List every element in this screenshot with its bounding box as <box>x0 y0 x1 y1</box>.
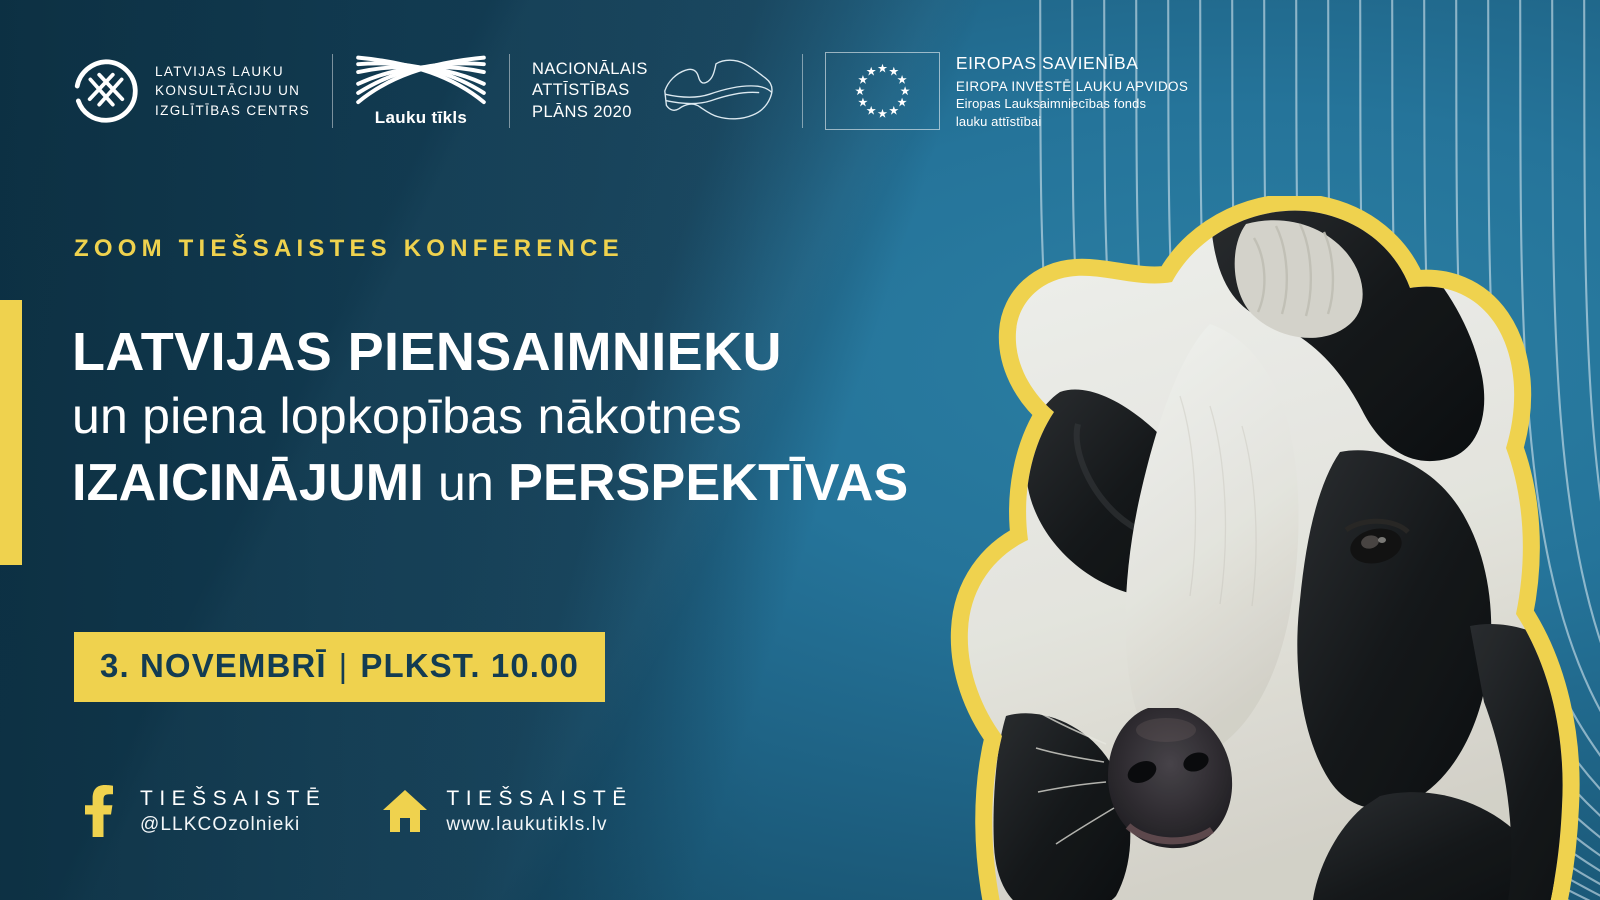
logo-divider-2 <box>509 54 510 128</box>
headline-line-3: IZAICINĀJUMI un PERSPEKTĪVAS <box>72 452 908 514</box>
eu-text-line-3: lauku attīstībai <box>956 113 1188 130</box>
event-kicker: ZOOM TIEŠSAISTES KONFERENCE <box>74 235 624 263</box>
headline-line-3-part-b: un <box>438 455 494 511</box>
headline-line-2: un piena lopkopības nākotnes <box>72 386 908 446</box>
llkc-logo: LATVIJAS LAUKU KONSULTĀCIJU UN IZGLĪTĪBA… <box>72 42 310 140</box>
llkc-text-line-2: KONSULTĀCIJU UN <box>155 81 310 101</box>
nap-text-line-2: ATTĪSTĪBAS <box>532 80 648 101</box>
contact-facebook-label: TIEŠSAISTĒ <box>140 785 326 812</box>
contact-website-text: TIEŠSAISTĒ www.laukutikls.lv <box>446 785 632 838</box>
latvia-map-outline-icon <box>652 52 780 130</box>
page-title: LATVIJAS PIENSAIMNIEKU un piena lopkopīb… <box>72 322 908 515</box>
eu-text-line-1: EIROPA INVESTĒ LAUKU APVIDOS <box>956 78 1188 96</box>
eu-title: EIROPAS SAVIENĪBA <box>956 52 1188 76</box>
headline-line-3-part-c: PERSPEKTĪVAS <box>508 454 908 512</box>
event-time: PLKST. 10.00 <box>360 647 579 684</box>
logo-divider-1 <box>332 54 333 128</box>
contact-website-label: TIEŠSAISTĒ <box>446 785 632 812</box>
nap-logo-text: NACIONĀLAIS ATTĪSTĪBAS PLĀNS 2020 <box>532 59 648 122</box>
contact-facebook[interactable]: TIEŠSAISTĒ @LLKCOzolnieki <box>76 782 326 840</box>
eu-flag-stars-icon <box>825 52 940 130</box>
date-time-badge: 3. NOVEMBRĪ|PLKST. 10.00 <box>74 632 605 702</box>
contact-facebook-value: @LLKCOzolnieki <box>140 812 326 838</box>
eu-logo-text: EIROPAS SAVIENĪBA EIROPA INVESTĒ LAUKU A… <box>956 52 1188 130</box>
lauku-tikls-logo: Lauku tīkls <box>355 42 487 140</box>
nap-text-line-3: PLĀNS 2020 <box>532 102 648 123</box>
svg-text:Lauku tīkls: Lauku tīkls <box>375 108 467 127</box>
event-date: 3. NOVEMBRĪ <box>100 647 327 684</box>
lauku-tikls-net-logo: Lauku tīkls <box>355 55 487 127</box>
badge-separator: | <box>327 647 361 684</box>
headline-line-1: LATVIJAS PIENSAIMNIEKU <box>72 322 908 382</box>
nap-2020-logo: NACIONĀLAIS ATTĪSTĪBAS PLĀNS 2020 <box>532 42 780 140</box>
nap-text-line-1: NACIONĀLAIS <box>532 59 648 80</box>
eu-text-line-2: Eiropas Lauksaimniecības fonds <box>956 95 1188 112</box>
llkc-logo-text: LATVIJAS LAUKU KONSULTĀCIJU UN IZGLĪTĪBA… <box>155 62 310 121</box>
contact-facebook-text: TIEŠSAISTĒ @LLKCOzolnieki <box>140 785 326 838</box>
facebook-icon[interactable] <box>76 782 122 840</box>
llkc-text-line-3: IZGLĪTĪBAS CENTRS <box>155 101 310 121</box>
partner-logo-strip: LATVIJAS LAUKU KONSULTĀCIJU UN IZGLĪTĪBA… <box>72 42 1188 140</box>
contact-website-value: www.laukutikls.lv <box>446 812 632 838</box>
poster-canvas: LATVIJAS LAUKU KONSULTĀCIJU UN IZGLĪTĪBA… <box>0 0 1600 900</box>
llkc-text-line-1: LATVIJAS LAUKU <box>155 62 310 82</box>
eu-logo: EIROPAS SAVIENĪBA EIROPA INVESTĒ LAUKU A… <box>825 42 1188 140</box>
contact-row: TIEŠSAISTĒ @LLKCOzolnieki TIEŠSAISTĒ www… <box>76 782 633 840</box>
headline-line-3-part-a: IZAICINĀJUMI <box>72 454 424 512</box>
contact-website[interactable]: TIEŠSAISTĒ www.laukutikls.lv <box>382 782 632 840</box>
left-accent-bar <box>0 300 22 565</box>
logo-divider-3 <box>802 54 803 128</box>
home-icon[interactable] <box>382 782 428 840</box>
llkc-circle-weave-logo <box>72 57 140 125</box>
